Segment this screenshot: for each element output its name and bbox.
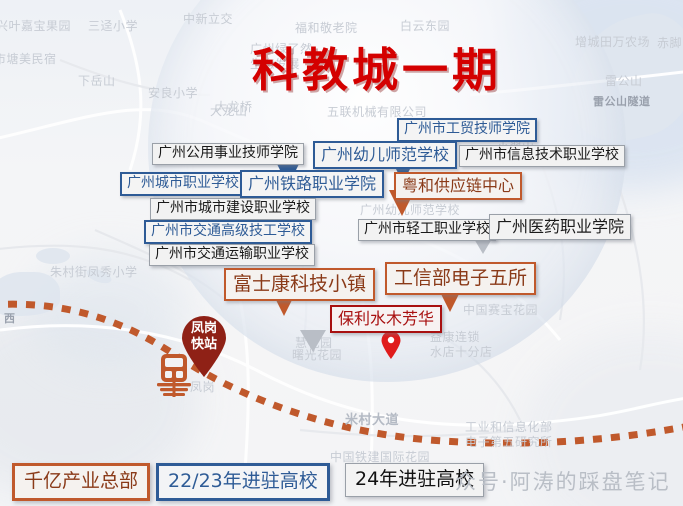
basemap-label: 市塘美民宿 bbox=[0, 52, 57, 67]
callout-label[interactable]: 广州市轻工职业学校 bbox=[358, 219, 496, 241]
map-screenshot: 兴叶嘉宝果园三迳小学中新立交市塘美民宿下岳山安良小学大龙桥五联机械有限公司福和敬… bbox=[0, 0, 683, 506]
callout-label[interactable]: 工信部电子五所 bbox=[385, 262, 536, 295]
basemap-label: 益康连锁 水店十分店 bbox=[430, 330, 493, 359]
callout-label[interactable]: 富士康科技小镇 bbox=[224, 268, 375, 301]
triangle-grey-2-marker bbox=[300, 330, 326, 352]
callout-label[interactable]: 保利水木芳华 bbox=[330, 305, 442, 333]
basemap-label: 下岳山 bbox=[78, 74, 116, 89]
basemap-label: 增城田万农场 bbox=[575, 35, 650, 50]
pin-label-line1: 凤岗 bbox=[191, 321, 217, 336]
callout-label[interactable]: 广州市交通高级技工学校 bbox=[144, 220, 312, 244]
map-pin-site[interactable] bbox=[380, 330, 402, 360]
basemap-label: 中新立交 bbox=[183, 12, 233, 27]
basemap-label: 朱村街凤秀小学 bbox=[50, 265, 138, 280]
callout-label[interactable]: 广州市工贸技师学院 bbox=[397, 118, 537, 142]
callout-label[interactable]: 广州公用事业技师学院 bbox=[152, 143, 304, 165]
callout-label[interactable]: 广州市信息技术职业学校 bbox=[459, 145, 625, 167]
page-title: 科教城一期 bbox=[252, 34, 502, 100]
basemap-label: 安良小学 bbox=[148, 86, 198, 101]
callout-label[interactable]: 广州市交通运输职业学校 bbox=[149, 244, 315, 266]
callout-label[interactable]: 广州幼儿师范学校 bbox=[313, 141, 457, 169]
basemap-label: 三迳小学 bbox=[88, 19, 138, 34]
callout-label[interactable]: 广州城市职业学校 bbox=[120, 172, 246, 196]
legend-item[interactable]: 22/23年进驻高校 bbox=[156, 463, 330, 501]
basemap-label: 大龙山 bbox=[210, 104, 248, 119]
basemap-label: 白云东园 bbox=[400, 19, 450, 34]
basemap-label: 赤脚 bbox=[657, 36, 682, 51]
callout-label[interactable]: 广州医药职业学院 bbox=[489, 214, 631, 240]
pin-label-line2: 快站 bbox=[191, 337, 217, 352]
basemap-label: 米村大道 bbox=[345, 413, 399, 429]
legend-item[interactable]: 千亿产业总部 bbox=[12, 463, 150, 501]
callout-label[interactable]: 广州铁路职业学院 bbox=[240, 170, 384, 198]
callout-label[interactable]: 粤和供应链中心 bbox=[394, 172, 522, 200]
watermark: 众号·阿涛的踩盘笔记 bbox=[455, 466, 671, 496]
basemap-label: 西 bbox=[4, 312, 16, 325]
train-icon bbox=[154, 352, 194, 400]
basemap-label: 工业和信息化部 电子第五研究所 bbox=[465, 420, 553, 449]
basemap-label: 中国赛宝花园 bbox=[463, 303, 538, 318]
callout-label[interactable]: 广州市城市建设职业学校 bbox=[150, 198, 316, 220]
basemap-label: 兴叶嘉宝果园 bbox=[0, 19, 71, 34]
basemap-label: 雷公山隧道 bbox=[593, 95, 651, 108]
basemap-label: 雷公山 bbox=[605, 74, 643, 89]
